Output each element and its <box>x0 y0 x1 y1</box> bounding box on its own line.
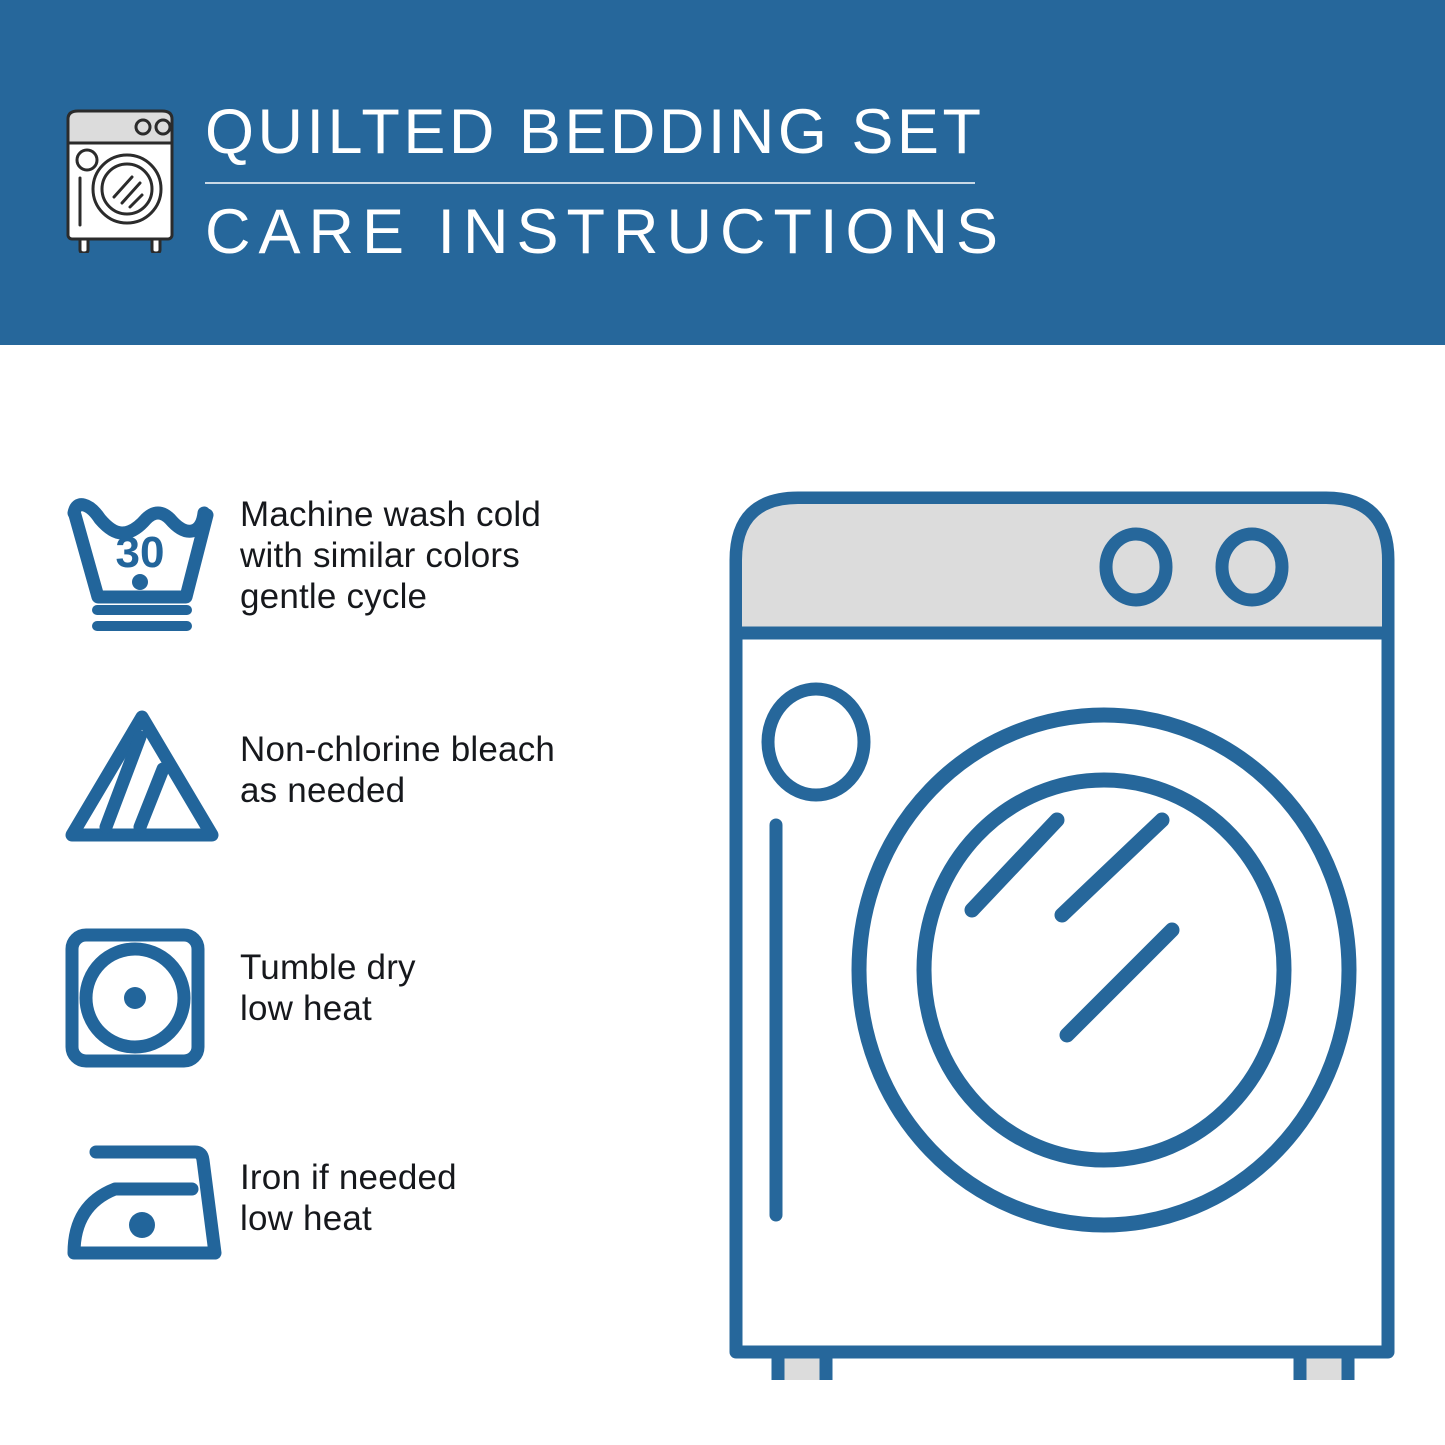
care-instructions-page: QUILTED BEDDING SET CARE INSTRUCTIONS 30 <box>0 0 1445 1445</box>
list-item-label-line2: low heat <box>240 1198 457 1239</box>
list-item: Tumble dry low heat <box>60 925 680 1075</box>
machine-wash-tub-icon: 30 <box>60 487 240 637</box>
list-item-label-line1: Tumble dry <box>240 947 416 988</box>
wash-temperature-value: 30 <box>116 528 165 577</box>
tumble-dry-icon <box>60 925 240 1075</box>
care-instruction-list: 30 Machine wash cold with similar colors… <box>0 345 700 1445</box>
iron-dot-icon <box>129 1212 155 1238</box>
list-item-label: Non-chlorine bleach as needed <box>240 707 555 811</box>
list-item-label-line2: with similar colors <box>240 535 541 576</box>
header-text-block: QUILTED BEDDING SET CARE INSTRUCTIONS <box>205 95 995 268</box>
gentle-bar-2 <box>92 621 192 631</box>
page-subtitle: CARE INSTRUCTIONS <box>205 196 995 268</box>
iron-icon <box>60 1135 240 1265</box>
gentle-bar-1 <box>92 605 192 615</box>
washing-machine-icon <box>60 103 180 253</box>
list-item-label-line3: gentle cycle <box>240 576 541 617</box>
tumble-dry-dot-icon <box>124 987 146 1009</box>
title-divider <box>205 182 975 184</box>
machine-leg-left <box>778 1352 826 1380</box>
list-item: Non-chlorine bleach as needed <box>60 707 680 847</box>
bleach-stripe-2 <box>140 769 163 827</box>
washing-machine-illustration <box>712 470 1412 1380</box>
list-item: 30 Machine wash cold with similar colors… <box>60 487 680 637</box>
list-item-label: Tumble dry low heat <box>240 925 416 1029</box>
list-item-label-line1: Iron if needed <box>240 1157 457 1198</box>
list-item-label: Machine wash cold with similar colors ge… <box>240 487 541 617</box>
list-item-label: Iron if needed low heat <box>240 1135 457 1239</box>
list-item-label-line2: low heat <box>240 988 416 1029</box>
list-item: Iron if needed low heat <box>60 1135 680 1265</box>
wash-dot-icon <box>132 574 148 590</box>
list-item-label-line2: as needed <box>240 770 555 811</box>
non-chlorine-bleach-triangle-icon <box>60 707 240 847</box>
header-banner: QUILTED BEDDING SET CARE INSTRUCTIONS <box>0 0 1445 345</box>
page-title: QUILTED BEDDING SET <box>205 95 995 169</box>
list-item-label-line1: Machine wash cold <box>240 494 541 535</box>
list-item-label-line1: Non-chlorine bleach <box>240 729 555 770</box>
machine-leg-right <box>1300 1352 1348 1380</box>
